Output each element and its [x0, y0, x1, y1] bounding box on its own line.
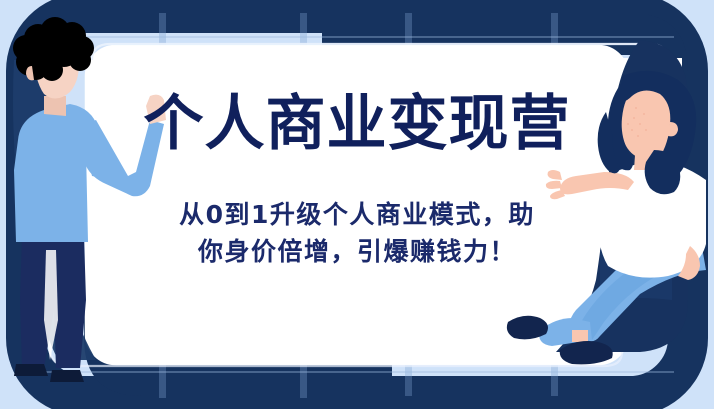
man-shoe-left [14, 364, 48, 376]
man-neck [44, 96, 66, 116]
man-shoe-right [50, 370, 84, 382]
woman-shoe-left [507, 316, 548, 340]
promo-poster: 个人商业变现营 从0到1升级个人商业模式，助 你身价倍增，引爆赚钱力！ [0, 0, 714, 409]
poster-artwork [0, 0, 714, 409]
